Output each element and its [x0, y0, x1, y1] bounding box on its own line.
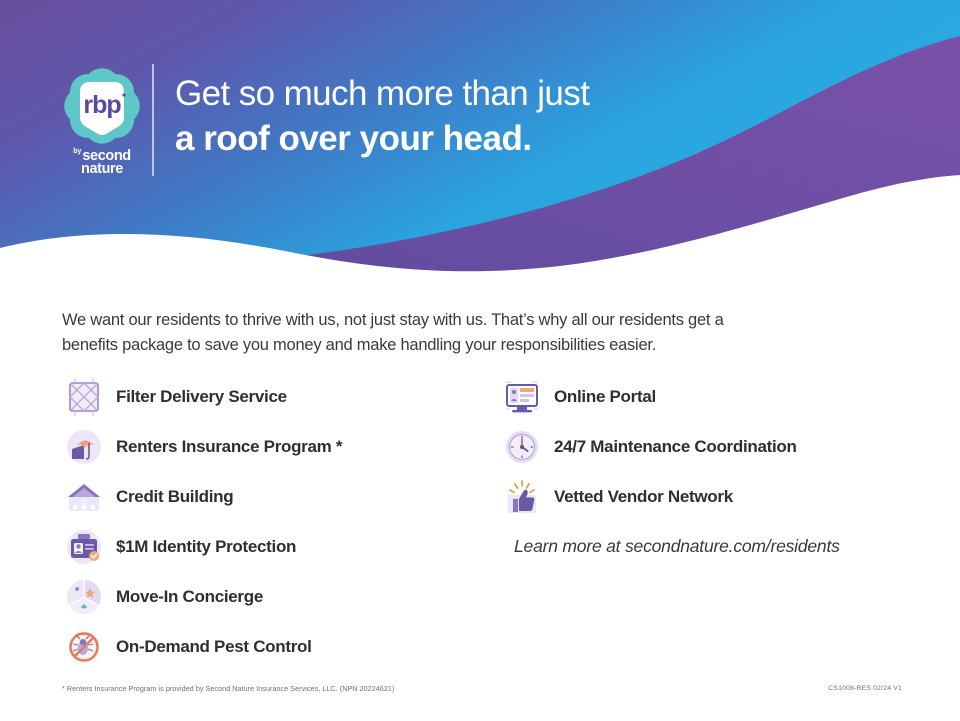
benefits-column-left: Filter Delivery Service Renters Insuranc… — [62, 372, 482, 672]
svg-text:rbp: rbp — [83, 91, 121, 119]
benefit-item-online-portal: Online Portal — [500, 372, 920, 422]
air-filter-icon — [62, 375, 106, 419]
benefit-item-identity-protection: $1M Identity Protection — [62, 522, 482, 572]
benefit-label: Vetted Vendor Network — [554, 487, 733, 507]
pest-control-icon — [62, 625, 106, 669]
rosette-badge-icon: rbp — [58, 62, 146, 150]
benefit-item-pest-control: On-Demand Pest Control — [62, 622, 482, 672]
rbp-logo-mark: rbp — [58, 62, 146, 150]
intro-line-2: benefits package to save you money and m… — [62, 333, 882, 358]
benefits-section: Filter Delivery Service Renters Insuranc… — [0, 372, 960, 672]
legal-footnote: * Renters Insurance Program is provided … — [62, 684, 394, 693]
logo-nature-text: nature — [58, 162, 146, 177]
benefit-item-maintenance-coordination: 24/7 Maintenance Coordination — [500, 422, 920, 472]
rbp-logo-subtitle: bysecond nature — [58, 148, 146, 177]
umbrella-shield-icon — [62, 425, 106, 469]
benefit-label: $1M Identity Protection — [116, 537, 296, 557]
benefit-item-move-in-concierge: Move-In Concierge — [62, 572, 482, 622]
rbp-logo: rbp bysecond nature — [58, 62, 146, 180]
logo-by-text: by — [73, 148, 81, 155]
benefit-item-filter-delivery-service: Filter Delivery Service — [62, 372, 482, 422]
benefit-label: On-Demand Pest Control — [116, 637, 312, 657]
benefit-label: Move-In Concierge — [116, 587, 263, 607]
benefit-item-credit-building: Credit Building — [62, 472, 482, 522]
benefits-column-right: Online Portal 24/7 M — [500, 372, 920, 522]
benefit-label: 24/7 Maintenance Coordination — [554, 437, 797, 457]
benefit-label: Filter Delivery Service — [116, 387, 287, 407]
thumbs-up-icon — [500, 475, 544, 519]
concierge-services-icon — [62, 575, 106, 619]
intro-paragraph: We want our residents to thrive with us,… — [62, 308, 882, 358]
document-code: CS1008-RES 02/24 V1 — [828, 685, 902, 692]
benefit-label: Renters Insurance Program * — [116, 437, 342, 457]
credit-building-icon — [62, 475, 106, 519]
benefit-label: Online Portal — [554, 387, 656, 407]
benefit-label: Credit Building — [116, 487, 233, 507]
desktop-monitor-icon — [500, 375, 544, 419]
benefit-item-vetted-vendor-network: Vetted Vendor Network — [500, 472, 920, 522]
headline-line-1: Get so much more than just — [175, 72, 589, 117]
benefit-item-renters-insurance-program: Renters Insurance Program * — [62, 422, 482, 472]
marketing-flyer: rbp bysecond nature Get so much more tha… — [0, 0, 960, 721]
headline-line-2: a roof over your head. — [175, 117, 589, 162]
id-badge-icon — [62, 525, 106, 569]
hero-vertical-divider — [152, 64, 154, 176]
intro-line-1: We want our residents to thrive with us,… — [62, 308, 882, 333]
page-title: Get so much more than just a roof over y… — [175, 72, 589, 162]
clock-icon — [500, 425, 544, 469]
learn-more-text: Learn more at secondnature.com/residents — [514, 536, 840, 557]
